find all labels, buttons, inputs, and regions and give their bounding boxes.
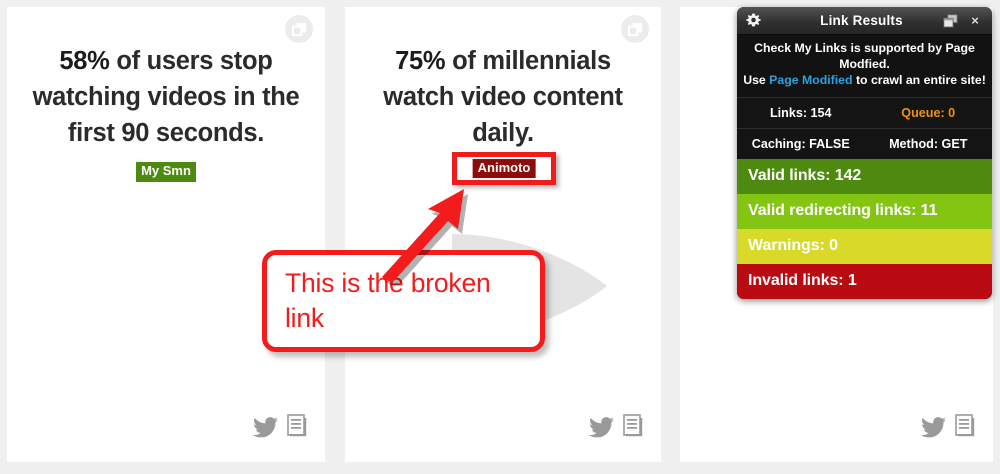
link-results-panel[interactable]: Link Results × Check My Links is support… [737, 7, 992, 299]
queue-count: Queue: 0 [865, 106, 993, 120]
source-link-badge[interactable]: My Smn [136, 162, 196, 182]
expand-icon[interactable] [621, 15, 649, 43]
broken-link-highlight[interactable]: Animoto [452, 152, 556, 185]
twitter-icon[interactable] [253, 417, 278, 438]
source-link-badge[interactable]: Animoto [473, 159, 536, 179]
article-icon[interactable] [955, 414, 975, 438]
card-footer-icons [921, 414, 975, 438]
stat-invalid-links[interactable]: Invalid links: 1 [737, 264, 992, 299]
quote-card-1[interactable]: 58% of users stop watching videos in the… [7, 7, 325, 462]
method-value: Method: GET [865, 137, 993, 151]
panel-notice: Check My Links is supported by Page Modf… [737, 35, 992, 97]
stat-valid-links[interactable]: Valid links: 142 [737, 159, 992, 194]
card-quote-text: 75% of millennials watch video content d… [361, 43, 645, 152]
panel-titlebar[interactable]: Link Results × [737, 7, 992, 35]
card-source: My Smn [7, 162, 325, 182]
article-icon[interactable] [287, 414, 307, 438]
notice-suffix: to crawl an entire site! [853, 73, 986, 87]
restore-icon[interactable] [942, 13, 958, 28]
notice-prefix: Use [743, 73, 769, 87]
article-icon[interactable] [623, 414, 643, 438]
stat-valid-redirecting-links[interactable]: Valid redirecting links: 11 [737, 194, 992, 229]
twitter-icon[interactable] [589, 417, 614, 438]
panel-notice-line-1: Check My Links is supported by Page Modf… [742, 41, 987, 73]
quote-percent: 75% [395, 47, 445, 75]
panel-info-row-2: Caching: FALSE Method: GET [737, 128, 992, 159]
expand-icon[interactable] [285, 15, 313, 43]
stat-warnings[interactable]: Warnings: 0 [737, 229, 992, 264]
panel-notice-line-2: Use Page Modified to crawl an entire sit… [742, 73, 987, 89]
page-root: 58% of users stop watching videos in the… [0, 0, 1000, 474]
annotation-arrow [378, 185, 498, 285]
twitter-icon[interactable] [921, 417, 946, 438]
caching-value: Caching: FALSE [737, 137, 865, 151]
gear-icon[interactable] [745, 12, 762, 29]
page-modified-link[interactable]: Page Modified [769, 73, 852, 87]
close-icon[interactable]: × [967, 11, 983, 29]
card-quote-text: 58% of users stop watching videos in the… [23, 43, 309, 152]
links-count: Links: 154 [737, 106, 865, 120]
panel-info-row-1: Links: 154 Queue: 0 [737, 97, 992, 128]
card-footer-icons [253, 414, 307, 438]
card-footer-icons [589, 414, 643, 438]
quote-percent: 58% [59, 47, 109, 75]
